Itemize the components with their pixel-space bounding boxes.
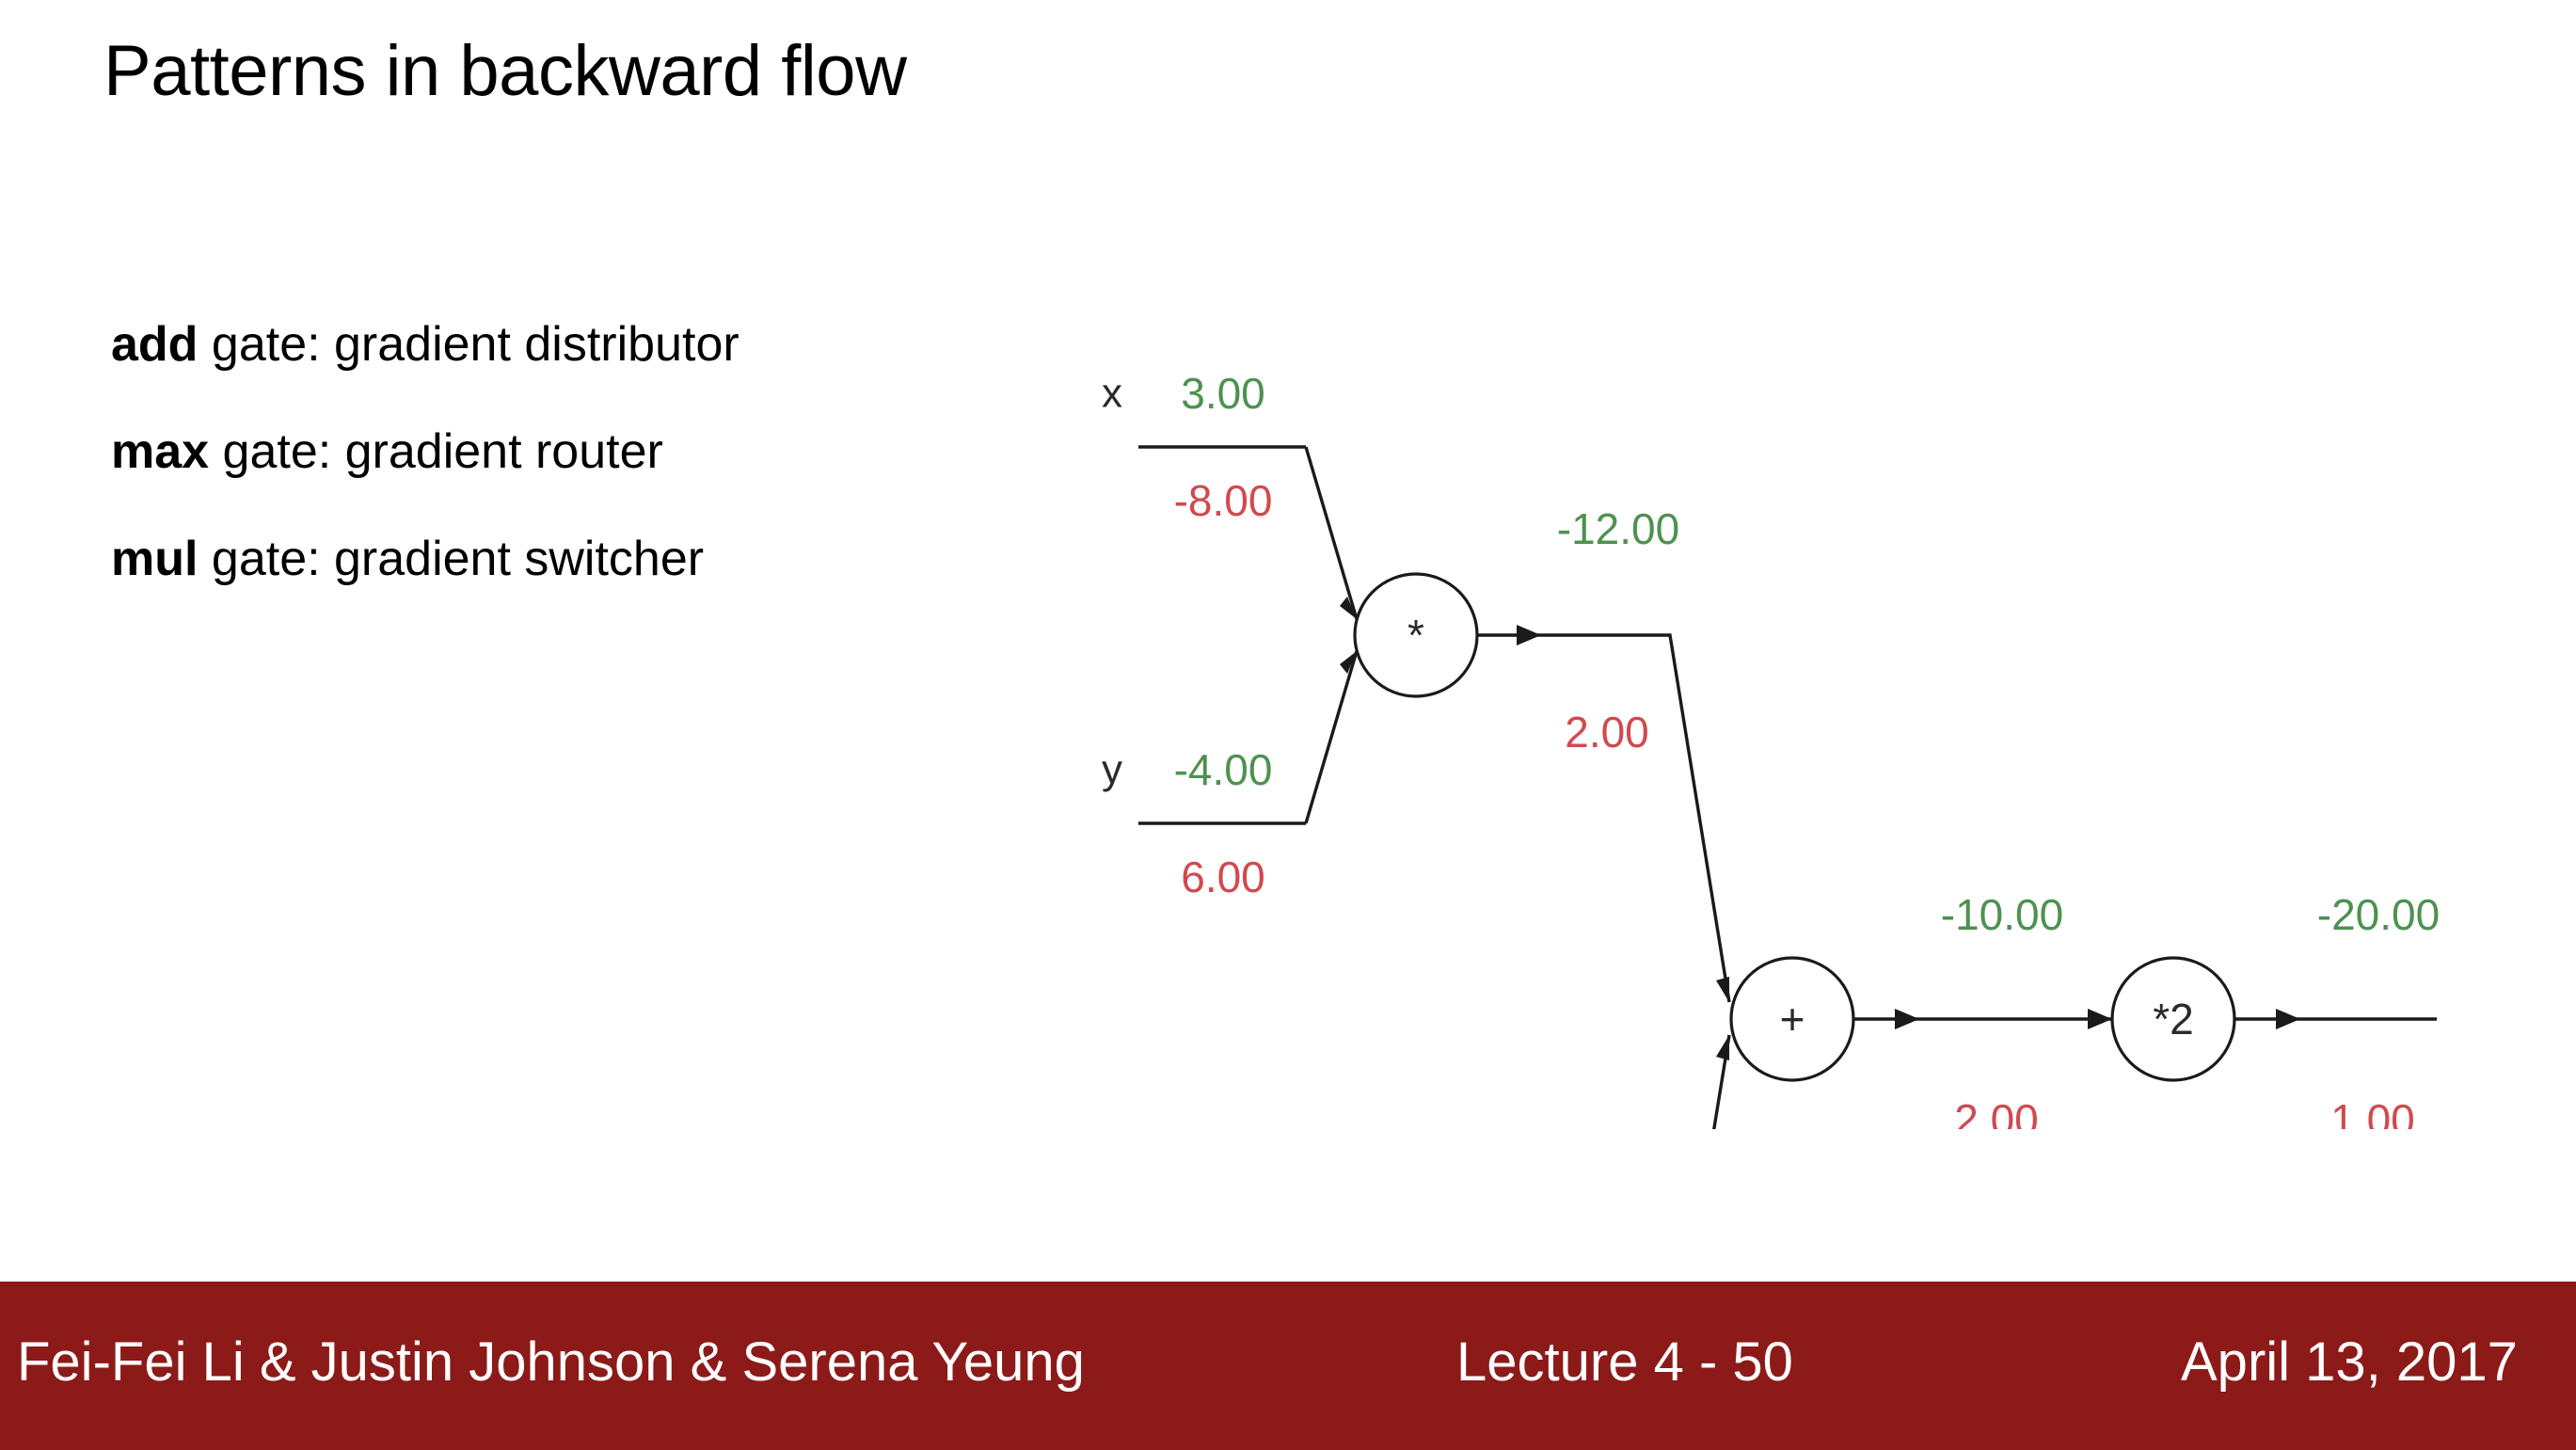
edge-y-to-mul [1306,651,1357,823]
bullet-gate-label: add [111,317,198,372]
gate-output-value-mul2: -20.00 [2317,890,2440,939]
input-label-x: x [1102,371,1122,417]
edge-max-to-add [1484,1035,1729,1129]
input-value-x: 3.00 [1181,369,1265,418]
arrowhead-into-mul2 [2088,1009,2112,1029]
bullet-text: gate: gradient switcher [198,532,704,586]
arrowhead-mul-out [1517,625,1541,645]
gate-output-gradient-mul: 2.00 [1565,708,1649,757]
gate-output-gradient-add: 2.00 [1954,1095,2039,1129]
bullet-gate-label: mul [111,532,198,586]
list-item: add gate: gradient distributor [111,320,1052,369]
gate-op-label-add: + [1780,995,1805,1044]
bullet-gate-label: max [111,424,209,479]
arrowhead-final-output [2276,1009,2300,1029]
input-value-y: -4.00 [1174,745,1273,794]
edge-mul-to-add [1477,635,1729,1002]
bullet-text: gate: gradient distributor [198,317,739,372]
input-label-y: y [1102,747,1122,793]
footer-lecture-number: Lecture 4 - 50 [1456,1330,1793,1394]
list-item: mul gate: gradient switcher [111,534,1052,583]
computational-graph-diagram: * max + [1091,282,2559,1129]
list-item: max gate: gradient router [111,427,1052,476]
input-gradient-y: 6.00 [1181,852,1265,901]
gate-op-label-mul2: *2 [2153,995,2193,1044]
bullet-list: add gate: gradient distributor max gate:… [111,320,1052,642]
gate-output-gradient-mul2: 1.00 [2330,1095,2415,1129]
gate-output-value-add: -10.00 [1941,890,2063,939]
input-gradient-x: -8.00 [1174,476,1273,525]
bullet-text: gate: gradient router [209,424,663,479]
gate-output-value-mul: -12.00 [1557,504,1679,553]
slide: Patterns in backward flow add gate: grad… [0,0,2576,1450]
footer-date: April 13, 2017 [2181,1330,2518,1394]
footer-bar: Fei-Fei Li & Justin Johnson & Serena Yeu… [0,1282,2576,1450]
edge-x-to-mul [1306,447,1357,619]
arrowhead-add-out [1895,1009,1919,1029]
arrowhead-max-to-add [1716,1035,1729,1060]
arrowhead-mul-to-add [1716,977,1729,1002]
gate-op-label-mul: * [1407,611,1424,660]
footer-authors: Fei-Fei Li & Justin Johnson & Serena Yeu… [17,1330,1085,1394]
page-title: Patterns in backward flow [103,30,906,112]
